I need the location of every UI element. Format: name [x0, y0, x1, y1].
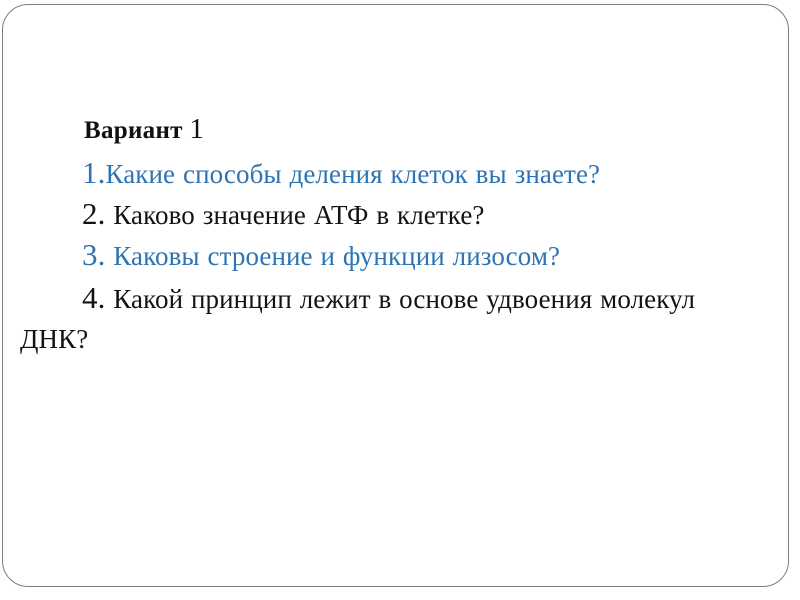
question-text-1: Какие способы деления клеток вы знаете?: [105, 159, 600, 189]
question-text-3: Каковы строение и функции лизосом?: [105, 241, 560, 271]
question-item-2: 2. Каково значение АТФ в клетке?: [20, 195, 720, 235]
variant-heading: Вариант 1: [20, 108, 720, 152]
question-list: Вариант 1 1.Какие способы деления клеток…: [20, 108, 720, 359]
question-number-4: 4.: [82, 280, 105, 315]
variant-heading-number: 1: [189, 113, 204, 145]
question-number-1: 1.: [82, 155, 105, 190]
question-item-4: 4. Какой принцип лежит в основе удвоения…: [20, 279, 720, 359]
slide-canvas: Вариант 1 1.Какие способы деления клеток…: [0, 0, 800, 600]
question-text-2: Каково значение АТФ в клетке?: [105, 200, 484, 230]
question-text-4: Какой принцип лежит в основе удвоения мо…: [20, 284, 695, 354]
question-item-1: 1.Какие способы деления клеток вы знаете…: [20, 154, 720, 194]
question-item-3: 3. Каковы строение и функции лизосом?: [20, 236, 720, 276]
question-number-3: 3.: [82, 237, 105, 272]
variant-heading-label: Вариант: [84, 117, 183, 144]
question-number-2: 2.: [82, 196, 105, 231]
